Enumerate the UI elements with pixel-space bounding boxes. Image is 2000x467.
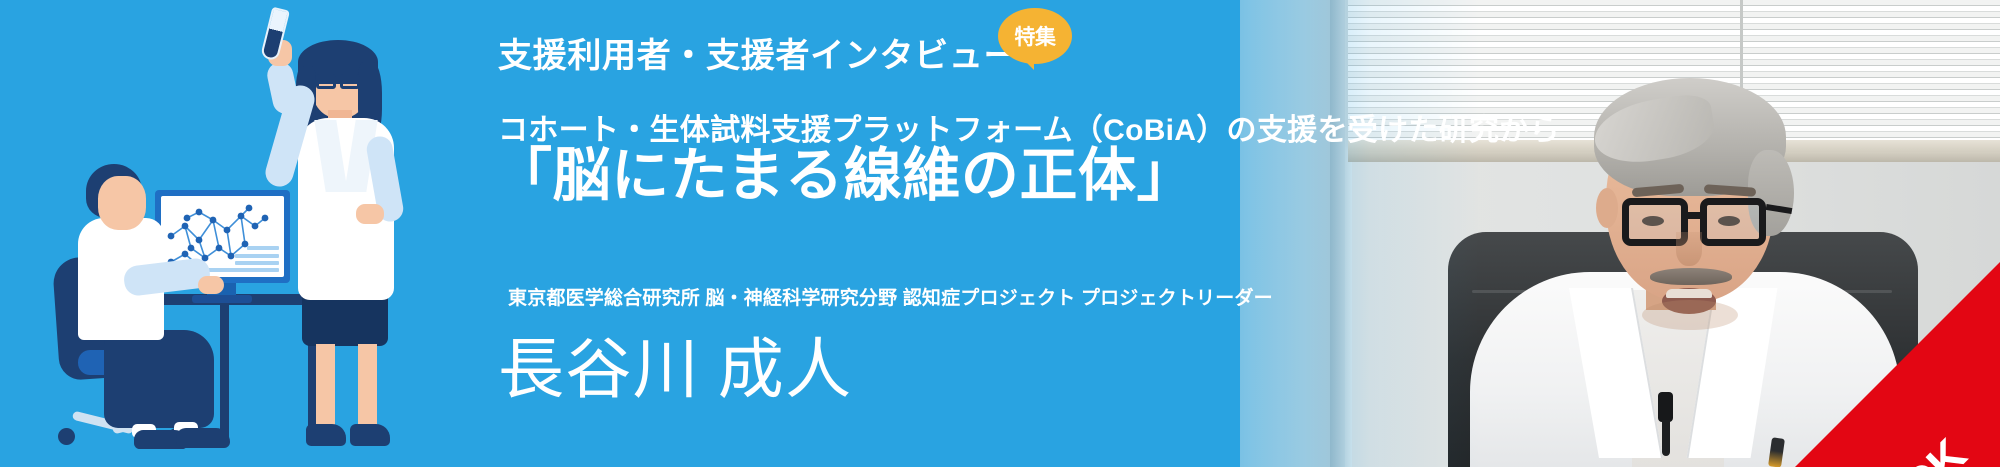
speaker-name: 長谷川 成人 xyxy=(498,316,852,412)
desk-leg-left xyxy=(220,305,229,445)
microphone-cord xyxy=(1662,420,1670,456)
glasses-lens-right xyxy=(1700,198,1766,246)
teeth xyxy=(1666,289,1712,298)
seated-man-hand xyxy=(198,276,224,294)
lapel-microphone xyxy=(1658,392,1673,422)
click-ribbon[interactable]: CLICK xyxy=(1790,257,2000,467)
seated-man-shoe-right xyxy=(176,428,230,448)
chair-wheel-left xyxy=(58,428,75,445)
monitor-base xyxy=(192,295,252,303)
mustache xyxy=(1650,268,1732,285)
banner-kicker: 支援利用者・支援者インタビュー xyxy=(498,28,1018,77)
standing-woman-heel-right xyxy=(350,424,390,446)
banner-main-title: 「脳にたまる線維の正体」 xyxy=(494,143,1195,210)
feature-badge-label: 特集 xyxy=(1014,21,1055,51)
seated-man-legs xyxy=(104,330,214,428)
chin xyxy=(1642,300,1738,330)
feature-badge-tail xyxy=(1010,54,1034,70)
standing-woman-glasses-right xyxy=(340,74,360,89)
banner-text-column: 支援利用者・支援者インタビュー 特集 コホート・生体試料支援プラットフォーム（C… xyxy=(498,0,1238,467)
nose xyxy=(1676,232,1702,266)
seated-man-head xyxy=(98,176,146,230)
standing-woman-forearm-raised xyxy=(265,60,301,116)
standing-woman-leg-left xyxy=(316,344,335,430)
standing-woman-glasses-left xyxy=(316,74,336,89)
ear-left xyxy=(1596,188,1618,228)
interview-banner[interactable]: 支援利用者・支援者インタビュー 特集 コホート・生体試料支援プラットフォーム（C… xyxy=(0,0,2000,467)
standing-woman-leg-right xyxy=(358,344,377,430)
speaker-affiliation: 東京都医学総合研究所 脳・神経科学研究分野 認知症プロジェクト プロジェクトリー… xyxy=(508,283,1273,310)
standing-woman-hand-right xyxy=(356,204,384,224)
standing-woman-glasses-bridge xyxy=(336,80,342,83)
standing-woman-heel-left xyxy=(306,424,346,446)
lab-researchers-illustration xyxy=(20,0,440,467)
glasses-bridge xyxy=(1688,212,1702,219)
